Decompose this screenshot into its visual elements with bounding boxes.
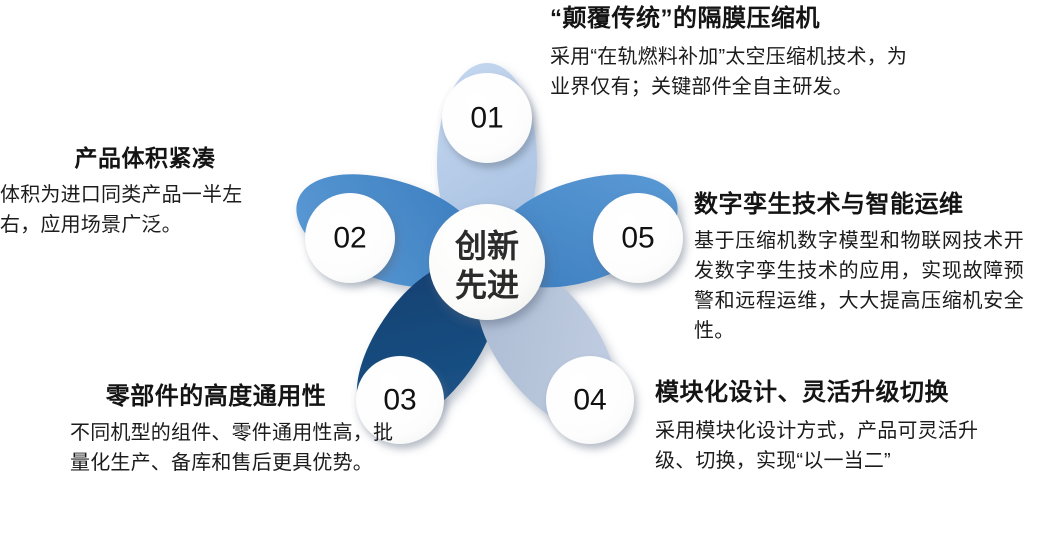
item-body-04: 采用模块化设计方式，产品可灵活升级、切换，实现“以一当二” (655, 416, 1000, 476)
item-body-02: 体积为进口同类产品一半左右，应用场景广泛。 (0, 180, 280, 240)
petal-number-04: 04 (573, 384, 606, 417)
infographic-canvas: 01 02 03 04 05 创新 先进 “颠覆传统”的隔膜压缩机 采用“在轨燃… (0, 0, 1044, 536)
hub-label-line2: 先进 (455, 267, 519, 303)
item-block-04: 模块化设计、灵活升级切换 采用模块化设计方式，产品可灵活升级、切换，实现“以一当… (655, 378, 1044, 476)
petal-number-01: 01 (470, 102, 503, 135)
item-block-05: 数字孪生技术与智能运维 基于压缩机数字模型和物联网技术开发数字孪生技术的应用，实… (694, 190, 1044, 346)
item-block-02: 产品体积紧凑 体积为进口同类产品一半左右，应用场景广泛。 (0, 143, 290, 240)
item-title-05: 数字孪生技术与智能运维 (694, 190, 1044, 220)
petal-number-02: 02 (333, 222, 366, 255)
item-block-03: 零部件的高度通用性 不同机型的组件、零件通用性高，批量化生产、备库和售后更具优势… (48, 382, 398, 478)
item-body-05: 基于压缩机数字模型和物联网技术开发数字孪生技术的应用，实现故障预警和远程运维，大… (694, 226, 1024, 346)
item-block-01: “颠覆传统”的隔膜压缩机 采用“在轨燃料补加”太空压缩机技术，为业界仅有；关键部… (550, 4, 970, 102)
item-body-01: 采用“在轨燃料补加”太空压缩机技术，为业界仅有；关键部件全自主研发。 (550, 42, 920, 102)
item-title-04: 模块化设计、灵活升级切换 (655, 378, 1044, 408)
item-body-03: 不同机型的组件、零件通用性高，批量化生产、备库和售后更具优势。 (70, 418, 400, 478)
petal-number-05: 05 (621, 222, 654, 255)
item-title-01: “颠覆传统”的隔膜压缩机 (550, 4, 970, 34)
hub-label-line1: 创新 (454, 228, 519, 264)
item-title-03: 零部件的高度通用性 (48, 382, 384, 412)
item-title-02: 产品体积紧凑 (0, 143, 290, 173)
